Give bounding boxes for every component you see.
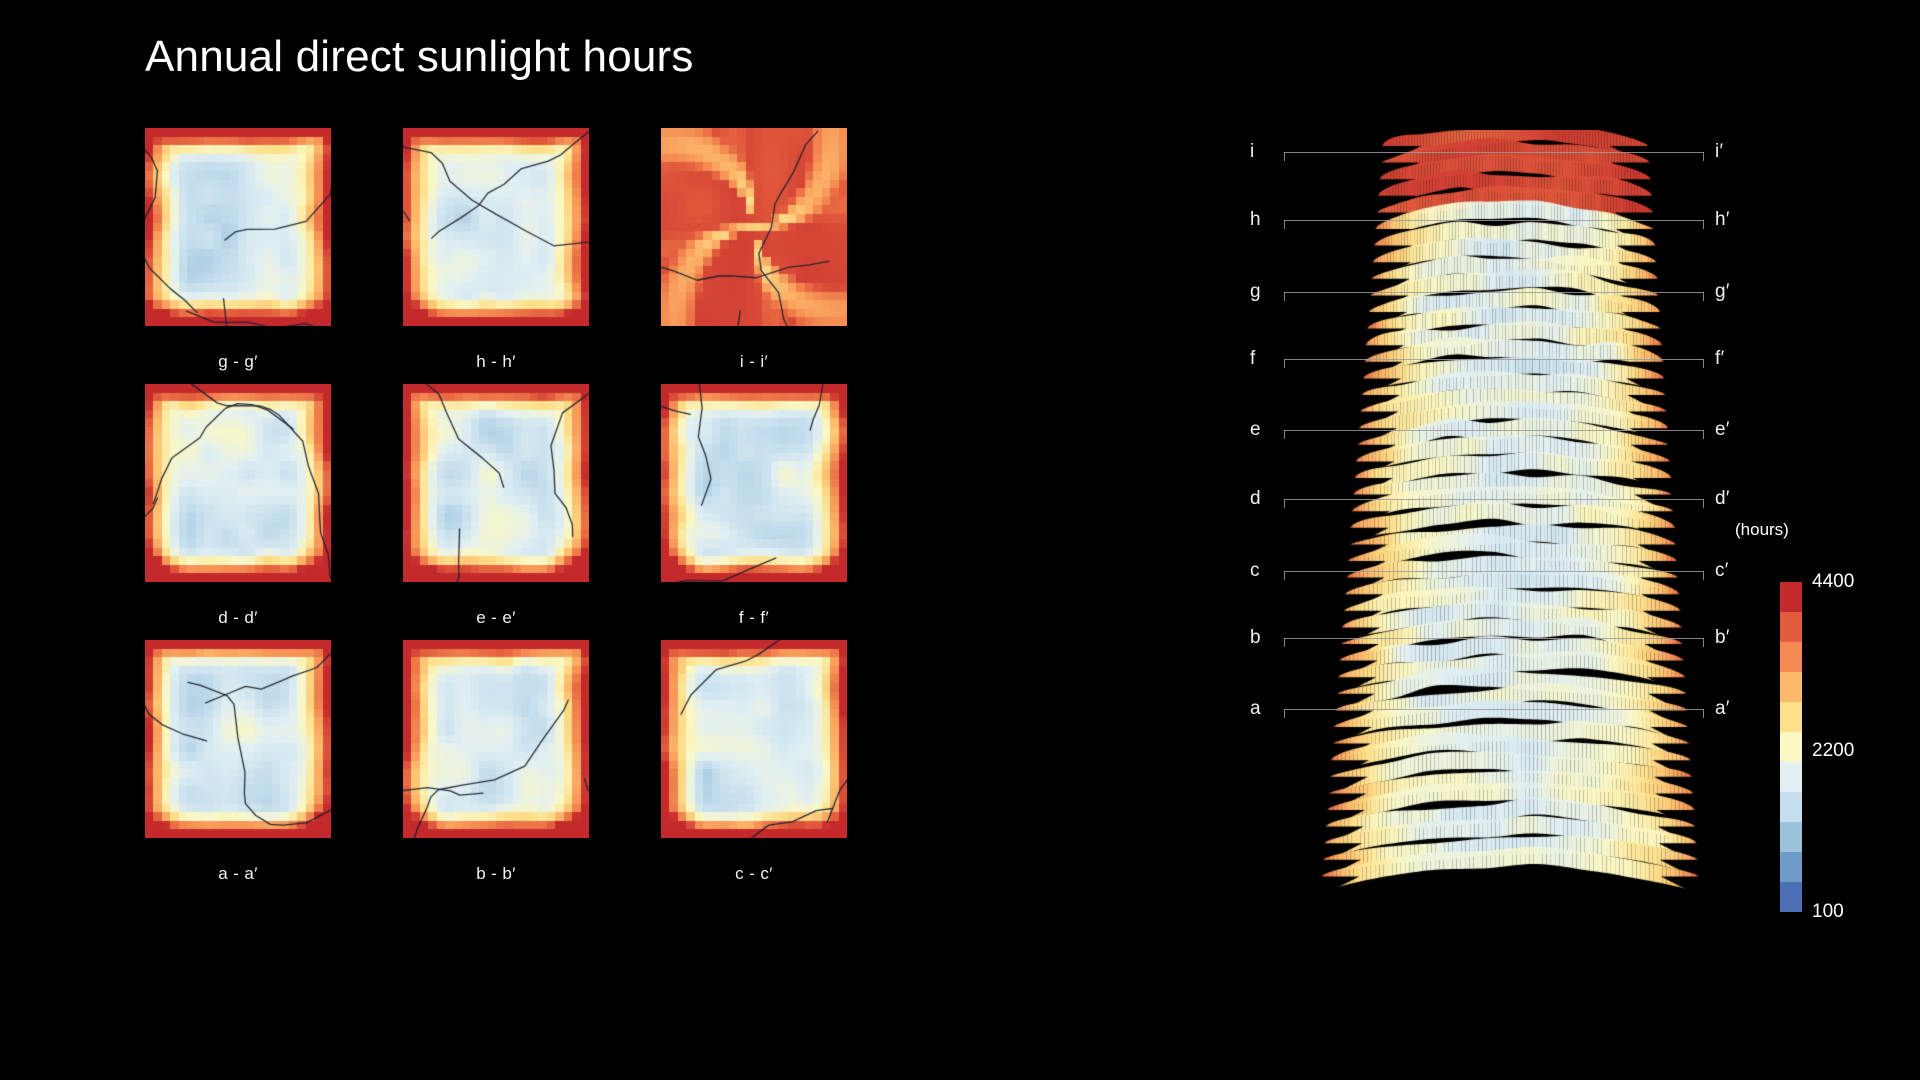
section-label-left-c: c <box>1250 560 1260 582</box>
section-tick-stub <box>1703 152 1704 161</box>
section-tick-stub <box>1284 571 1285 580</box>
tile-label-b: b - b′ <box>403 864 589 884</box>
section-label-right-h′: h′ <box>1715 209 1730 231</box>
tile-label-g: g - g′ <box>145 352 331 372</box>
colorbar-swatch <box>1780 732 1802 762</box>
section-tick-stub <box>1284 220 1285 229</box>
section-label-left-a: a <box>1250 698 1261 720</box>
colorbar: (hours) 44002200100 <box>1780 520 1910 940</box>
section-label-right-d′: d′ <box>1715 488 1730 510</box>
tile-label-f: f - f′ <box>661 608 847 628</box>
section-tick-stub <box>1703 292 1704 301</box>
map-tile-g[interactable]: g - g′ <box>145 128 331 372</box>
colorbar-swatch <box>1780 702 1802 732</box>
map-canvas <box>403 128 589 326</box>
section-label-left-e: e <box>1250 419 1261 441</box>
section-tick-stub <box>1284 430 1285 439</box>
map-canvas <box>403 640 589 838</box>
colorbar-swatch <box>1780 672 1802 702</box>
colorbar-strip <box>1780 582 1802 912</box>
colorbar-tick-label: 2200 <box>1812 740 1854 762</box>
section-tick-stub <box>1284 499 1285 508</box>
tile-label-h: h - h′ <box>403 352 589 372</box>
colorbar-swatch <box>1780 822 1802 852</box>
section-tick-stub <box>1703 359 1704 368</box>
section-label-left-f: f <box>1250 348 1256 370</box>
section-tick-line <box>1284 571 1704 572</box>
section-label-left-b: b <box>1250 627 1261 649</box>
colorbar-swatch <box>1780 762 1802 792</box>
section-tick-stub <box>1703 571 1704 580</box>
map-canvas <box>661 384 847 582</box>
stacked-surface-canvas <box>1310 130 1710 930</box>
section-label-right-e′: e′ <box>1715 419 1730 441</box>
map-heatmap <box>661 128 847 326</box>
section-tick-stub <box>1284 292 1285 301</box>
section-tick-line <box>1284 709 1704 710</box>
colorbar-tick-label: 4400 <box>1812 571 1854 593</box>
map-tile-i[interactable]: i - i′ <box>661 128 847 372</box>
section-tick-stub <box>1284 709 1285 718</box>
section-tick-line <box>1284 359 1704 360</box>
colorbar-swatch <box>1780 582 1802 612</box>
map-canvas <box>145 384 331 582</box>
map-tile-a[interactable]: a - a′ <box>145 640 331 884</box>
section-tick-line <box>1284 152 1704 153</box>
map-heatmap <box>403 640 589 838</box>
map-tile-c[interactable]: c - c′ <box>661 640 847 884</box>
map-canvas <box>145 128 331 326</box>
map-heatmap <box>145 640 331 838</box>
tile-label-d: d - d′ <box>145 608 331 628</box>
section-tick-line <box>1284 638 1704 639</box>
section-label-left-d: d <box>1250 488 1261 510</box>
tile-label-a: a - a′ <box>145 864 331 884</box>
section-label-right-i′: i′ <box>1715 141 1723 163</box>
colorbar-swatch <box>1780 642 1802 672</box>
map-tile-h[interactable]: h - h′ <box>403 128 589 372</box>
section-tick-line <box>1284 430 1704 431</box>
section-tick-stub <box>1703 709 1704 718</box>
tile-label-c: c - c′ <box>661 864 847 884</box>
map-heatmap <box>403 384 589 582</box>
colorbar-title: (hours) <box>1735 520 1789 540</box>
section-label-right-a′: a′ <box>1715 698 1730 720</box>
map-tile-d[interactable]: d - d′ <box>145 384 331 628</box>
section-tick-stub <box>1284 638 1285 647</box>
page-title: Annual direct sunlight hours <box>145 32 694 82</box>
tile-label-e: e - e′ <box>403 608 589 628</box>
map-heatmap <box>145 384 331 582</box>
section-label-left-i: i <box>1250 141 1255 163</box>
colorbar-swatch <box>1780 612 1802 642</box>
map-tile-f[interactable]: f - f′ <box>661 384 847 628</box>
stacked-sections-panel: ii′hh′gg′ff′ee′dd′cc′bb′aa′ <box>1250 130 1750 950</box>
map-tile-b[interactable]: b - b′ <box>403 640 589 884</box>
map-canvas <box>661 128 847 326</box>
section-label-right-f′: f′ <box>1715 348 1724 370</box>
small-multiples-grid: g - g′h - h′i - i′d - d′e - e′f - f′a - … <box>145 128 975 998</box>
map-canvas <box>145 640 331 838</box>
map-heatmap <box>661 640 847 838</box>
colorbar-swatch <box>1780 882 1802 912</box>
map-heatmap <box>661 384 847 582</box>
map-tile-e[interactable]: e - e′ <box>403 384 589 628</box>
tile-label-i: i - i′ <box>661 352 847 372</box>
section-tick-stub <box>1284 152 1285 161</box>
section-tick-stub <box>1284 359 1285 368</box>
section-tick-line <box>1284 220 1704 221</box>
section-label-right-b′: b′ <box>1715 627 1730 649</box>
map-canvas <box>403 384 589 582</box>
section-label-right-g′: g′ <box>1715 281 1730 303</box>
section-tick-stub <box>1703 499 1704 508</box>
section-label-right-c′: c′ <box>1715 560 1729 582</box>
section-tick-stub <box>1703 638 1704 647</box>
section-label-left-g: g <box>1250 281 1261 303</box>
colorbar-tick-label: 100 <box>1812 901 1844 923</box>
section-tick-line <box>1284 499 1704 500</box>
map-canvas <box>661 640 847 838</box>
section-label-left-h: h <box>1250 209 1261 231</box>
section-tick-stub <box>1703 430 1704 439</box>
section-tick-stub <box>1703 220 1704 229</box>
colorbar-swatch <box>1780 792 1802 822</box>
colorbar-swatch <box>1780 852 1802 882</box>
visualization-root: Annual direct sunlight hours g - g′h - h… <box>0 0 1920 1080</box>
map-heatmap <box>403 128 589 326</box>
map-heatmap <box>145 128 331 326</box>
section-tick-line <box>1284 292 1704 293</box>
